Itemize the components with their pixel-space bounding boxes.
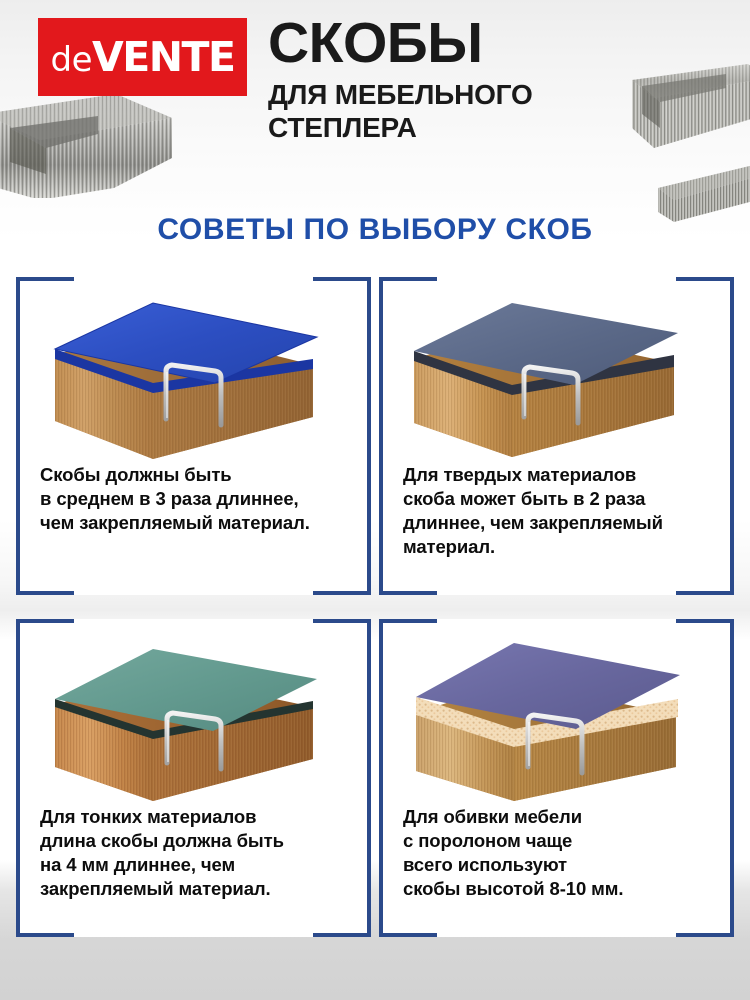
tip-text: Скобы должны быть в среднем в 3 раза дли… xyxy=(16,463,371,535)
tip-card-thin-materials: Для тонких материалов длина скобы должна… xyxy=(16,619,371,937)
page-subtitle-line2: СТЕПЛЕРА xyxy=(268,112,417,143)
card-corner-top-right xyxy=(676,619,734,623)
brand-logo-text: deVENTE xyxy=(50,37,234,78)
card-corner-top-right xyxy=(313,277,371,281)
card-corner-top-right xyxy=(676,277,734,281)
wood-block-purple-fabric-foam-with-staple-icon xyxy=(379,627,734,805)
page-subtitle: ДЛЯ МЕБЕЛЬНОГОСТЕПЛЕРА xyxy=(268,78,668,144)
tip-card-upholstery-foam: Для обивки мебели с поролоном чаще всего… xyxy=(379,619,734,937)
card-corner-top-left xyxy=(16,277,74,281)
card-corner-bottom-right xyxy=(313,933,371,937)
poster-page: deVENTE СКОБЫ ДЛЯ МЕБЕЛЬНОГОСТЕПЛЕРА СОВ… xyxy=(0,0,750,1000)
page-title: СКОБЫ xyxy=(268,16,668,70)
brand-logo: deVENTE xyxy=(38,18,247,96)
card-corner-bottom-left xyxy=(16,933,74,937)
wood-block-teal-panel-with-staple-icon xyxy=(16,627,371,805)
tip-card-3x-longer: Скобы должны быть в среднем в 3 раза дли… xyxy=(16,277,371,595)
card-corner-top-right xyxy=(313,619,371,623)
card-corner-top-left xyxy=(16,619,74,623)
tip-card-hard-materials: Для твердых материалов скоба может быть … xyxy=(379,277,734,595)
card-corner-bottom-left xyxy=(16,591,74,595)
card-corner-bottom-right xyxy=(313,591,371,595)
card-corner-bottom-right xyxy=(676,933,734,937)
card-corner-bottom-left xyxy=(379,591,437,595)
title-block: СКОБЫ ДЛЯ МЕБЕЛЬНОГОСТЕПЛЕРА xyxy=(268,16,668,144)
header: deVENTE СКОБЫ ДЛЯ МЕБЕЛЬНОГОСТЕПЛЕРА xyxy=(0,0,750,205)
tip-text: Для обивки мебели с поролоном чаще всего… xyxy=(379,805,734,901)
section-heading: СОВЕТЫ ПО ВЫБОРУ СКОБ xyxy=(0,213,750,247)
card-corner-top-left xyxy=(379,277,437,281)
staple-strip-left-icon xyxy=(0,88,174,198)
page-subtitle-line1: ДЛЯ МЕБЕЛЬНОГО xyxy=(268,79,533,110)
card-corner-top-left xyxy=(379,619,437,623)
tip-text: Для тонких материалов длина скобы должна… xyxy=(16,805,371,901)
card-corner-bottom-right xyxy=(676,591,734,595)
tip-text: Для твердых материалов скоба может быть … xyxy=(379,463,734,559)
brand-logo-name: VENTE xyxy=(92,33,235,81)
wood-block-blue-panel-with-staple-icon xyxy=(16,285,371,463)
wood-block-slate-panel-with-staple-icon xyxy=(379,285,734,463)
card-corner-bottom-left xyxy=(379,933,437,937)
tips-grid: Скобы должны быть в среднем в 3 раза дли… xyxy=(16,277,734,937)
brand-logo-prefix: de xyxy=(50,40,92,80)
